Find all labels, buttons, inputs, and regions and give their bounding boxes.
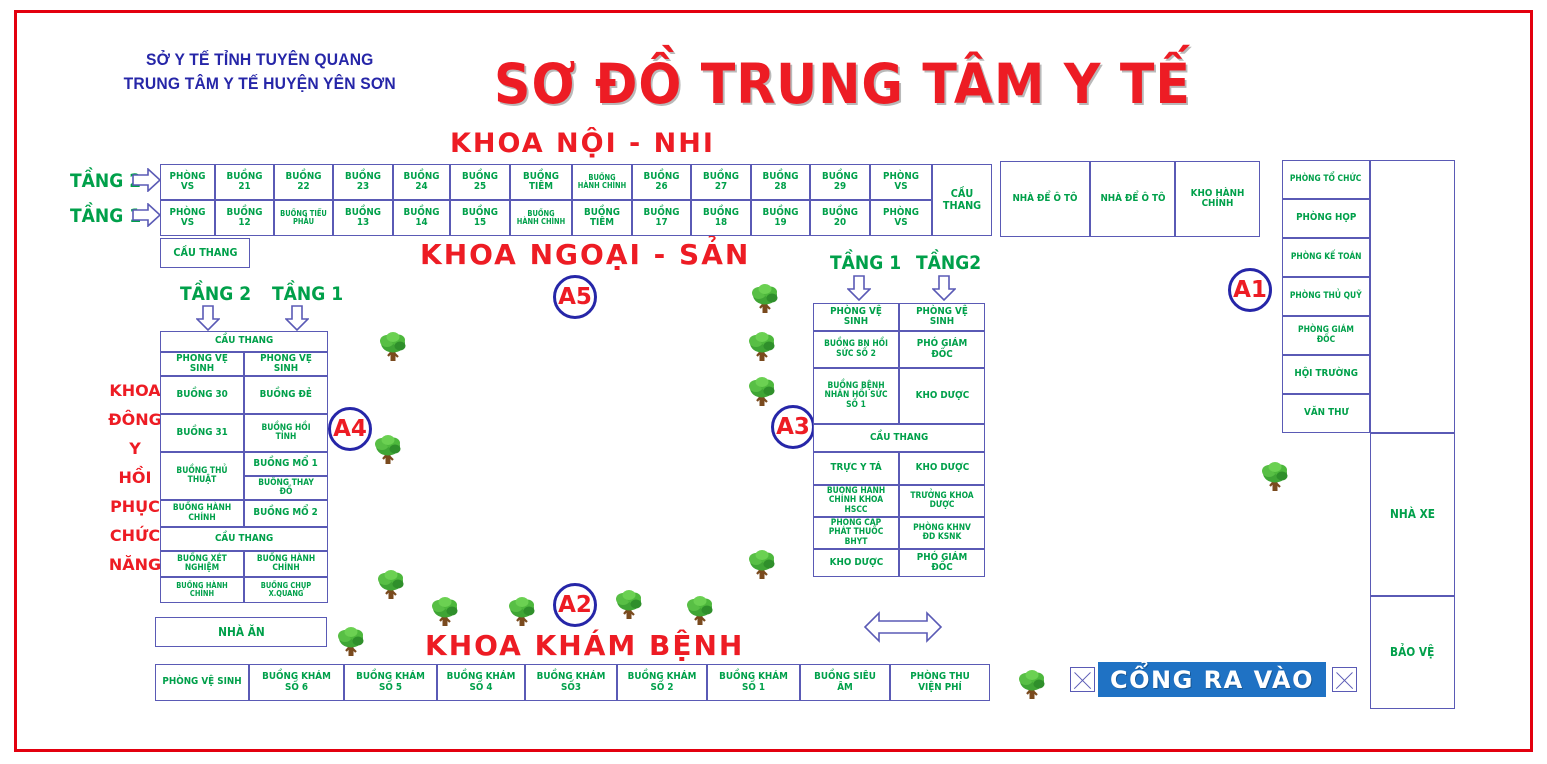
- dept-title-dong-y: KHOA ĐÔNG Y HỒI PHỤC CHỨC NĂNG: [104, 376, 166, 579]
- room-ngoai-left-3[interactable]: BUỒNG 31: [160, 414, 244, 452]
- room-floor2-12[interactable]: BUỒNG 29: [810, 164, 870, 200]
- room-ngoai-right-2[interactable]: BUỒNG ĐẺ: [244, 376, 328, 414]
- page-title: SƠ ĐỒ TRUNG TÂM Y TẾ: [494, 52, 1046, 116]
- dong-y-line: PHỤC: [104, 492, 166, 521]
- room-a3-left-3[interactable]: BUỒNG BỆNH NHÂN HỒI SỨC SỐ 1: [813, 368, 899, 424]
- room-floor1-4[interactable]: BUỒNG 13: [333, 200, 393, 236]
- room-a3-left-1[interactable]: PHÒNG VỆ SINH: [813, 303, 899, 331]
- marker-a3: A3: [771, 405, 815, 449]
- room-parking-1[interactable]: NHÀ ĐỂ Ô TÔ: [1000, 161, 1090, 237]
- room-admin-1[interactable]: PHÒNG TỔ CHỨC: [1282, 160, 1370, 199]
- admin-empty-area: [1370, 160, 1455, 433]
- tree-icon: [371, 433, 405, 467]
- room-hanh-chinh-ngoai[interactable]: BUỒNG HÀNH CHÍNH: [160, 500, 244, 527]
- room-a3b-right-4[interactable]: PHÓ GIÁM ĐỐC: [899, 549, 985, 577]
- room-xet-nghiem[interactable]: BUỒNG XÉT NGHIỆM: [160, 551, 244, 577]
- floor-label-tang1-top: TẦNG 1: [70, 205, 141, 227]
- floor-label-tang2-a3: TẦNG2: [916, 252, 981, 274]
- room-floor1-8[interactable]: BUỒNG TIÊM: [572, 200, 632, 236]
- room-floor2-6[interactable]: BUỒNG 25: [450, 164, 510, 200]
- room-ngoai-right-3[interactable]: BUỒNG HỒI TỈNH: [244, 414, 328, 452]
- room-kham-4[interactable]: BUỒNG KHÁM SỐ 4: [437, 664, 525, 701]
- room-bao-ve[interactable]: BẢO VỆ: [1370, 596, 1455, 709]
- room-kham-6[interactable]: BUỒNG KHÁM SỐ 2: [617, 664, 707, 701]
- room-kham-1[interactable]: PHÒNG VỆ SINH: [155, 664, 249, 701]
- org-line-2: TRUNG TÂM Y TẾ HUYỆN YÊN SƠN: [108, 72, 412, 96]
- marker-a2: A2: [553, 583, 597, 627]
- room-a3b-left-2[interactable]: BUỒNG HÀNH CHÍNH KHOA HSCC: [813, 485, 899, 517]
- room-chup-xquang[interactable]: BUỒNG CHỤP X.QUANG: [244, 577, 328, 603]
- room-floor2-3[interactable]: BUỒNG 22: [274, 164, 333, 200]
- room-floor2-8[interactable]: BUỒNG HÀNH CHÍNH: [572, 164, 632, 200]
- tree-icon: [428, 595, 462, 629]
- room-kham-2[interactable]: BUỒNG KHÁM SỐ 6: [249, 664, 344, 701]
- room-floor1-2[interactable]: BUỒNG 12: [215, 200, 274, 236]
- double-arrow-icon: [862, 610, 944, 644]
- room-a3-left-2[interactable]: BUỒNG BN HỒI SỨC SỐ 2: [813, 331, 899, 368]
- organization-header: SỞ Y TẾ TỈNH TUYÊN QUANG TRUNG TÂM Y TẾ …: [108, 48, 412, 96]
- tree-icon: [748, 282, 782, 316]
- room-floor2-1[interactable]: PHÒNG VS: [160, 164, 215, 200]
- room-thu-thuat[interactable]: BUỒNG THỦ THUẬT: [160, 452, 244, 500]
- room-floor2-2[interactable]: BUỒNG 21: [215, 164, 274, 200]
- room-floor2-13[interactable]: PHÒNG VS: [870, 164, 932, 200]
- gate-post-left-icon: [1070, 667, 1095, 692]
- room-admin-4[interactable]: PHÒNG THỦ QUỸ: [1282, 277, 1370, 316]
- room-nha-an[interactable]: NHÀ ĂN: [155, 617, 327, 647]
- dept-title-noi-nhi: KHOA NỘI - NHI: [450, 128, 715, 159]
- room-floor1-13[interactable]: PHÒNG VS: [870, 200, 932, 236]
- gate-post-right-icon: [1332, 667, 1357, 692]
- room-kham-8[interactable]: BUỒNG SIÊU ÂM: [800, 664, 890, 701]
- arrow-right-icon: [132, 168, 162, 192]
- tree-icon: [745, 548, 779, 582]
- room-floor1-11[interactable]: BUỒNG 19: [751, 200, 810, 236]
- tree-icon: [1258, 460, 1292, 494]
- room-a3b-left-4[interactable]: KHO DƯỢC: [813, 549, 899, 577]
- tree-icon: [745, 375, 779, 409]
- room-ngoai-stair-top[interactable]: CẦU THANG: [160, 331, 328, 352]
- tree-icon: [505, 595, 539, 629]
- dong-y-line: CHỨC: [104, 521, 166, 550]
- room-floor1-9[interactable]: BUỒNG 17: [632, 200, 691, 236]
- floor-label-tang2-top: TẦNG 2: [70, 170, 141, 192]
- tree-icon: [334, 625, 368, 659]
- room-cau-thang-noi-nhi[interactable]: CẦU THANG: [932, 164, 992, 236]
- room-a3-stair[interactable]: CẦU THANG: [813, 424, 985, 452]
- tree-icon: [683, 594, 717, 628]
- tree-icon: [745, 330, 779, 364]
- arrow-right-icon: [132, 203, 162, 227]
- gate-entrance[interactable]: CỔNG RA VÀO: [1098, 662, 1326, 697]
- room-a3b-left-3[interactable]: PHÒNG CẤP PHÁT THUỐC BHYT: [813, 517, 899, 549]
- room-a3b-right-2[interactable]: TRƯỞNG KHOA DƯỢC: [899, 485, 985, 517]
- room-admin-3[interactable]: PHÒNG KẾ TOÁN: [1282, 238, 1370, 277]
- room-mo-1[interactable]: BUỒNG MỔ 1: [244, 452, 328, 476]
- dong-y-line: HỒI: [104, 463, 166, 492]
- room-nha-xe[interactable]: NHÀ XE: [1370, 433, 1455, 596]
- arrow-down-icon: [847, 275, 871, 301]
- dong-y-line: ĐÔNG Y: [104, 405, 166, 463]
- room-a3-right-3[interactable]: KHO DƯỢC: [899, 368, 985, 424]
- dong-y-line: NĂNG: [104, 550, 166, 579]
- floor-label-tang2-ngoaisan: TẦNG 2: [180, 283, 251, 305]
- tree-icon: [1015, 668, 1049, 702]
- room-kham-9[interactable]: PHÒNG THU VIỆN PHÍ: [890, 664, 990, 701]
- room-admin-2[interactable]: PHÒNG HỌP: [1282, 199, 1370, 238]
- room-a3-right-2[interactable]: PHÓ GIÁM ĐỐC: [899, 331, 985, 368]
- room-admin-6[interactable]: HỘI TRƯỜNG: [1282, 355, 1370, 394]
- room-hanh-chinh-2[interactable]: BUỒNG HÀNH CHÍNH: [244, 551, 328, 577]
- room-kham-7[interactable]: BUỒNG KHÁM SỐ 1: [707, 664, 800, 701]
- room-a3-right-1[interactable]: PHÒNG VỆ SINH: [899, 303, 985, 331]
- tree-icon: [612, 588, 646, 622]
- arrow-down-icon: [196, 305, 220, 331]
- dashed-divider: [247, 577, 325, 578]
- room-parking-3[interactable]: KHO HÀNH CHÍNH: [1175, 161, 1260, 237]
- room-floor1-5[interactable]: BUỒNG 14: [393, 200, 450, 236]
- room-thay-do[interactable]: BUỒNG THAY ĐỒ: [244, 476, 328, 500]
- room-kham-5[interactable]: BUỒNG KHÁM SỐ3: [525, 664, 617, 701]
- room-floor1-3[interactable]: BUỒNG TIỂU PHẪU: [274, 200, 333, 236]
- room-ngoai-stair-mid[interactable]: CẦU THANG: [160, 527, 328, 551]
- room-ngoai-left-2[interactable]: BUỒNG 30: [160, 376, 244, 414]
- marker-a5: A5: [553, 275, 597, 319]
- room-floor1-7[interactable]: BUỒNG HÀNH CHÍNH: [510, 200, 572, 236]
- arrow-down-icon: [932, 275, 956, 301]
- tree-icon: [376, 330, 410, 364]
- dept-title-kham-benh: KHOA KHÁM BỆNH: [425, 629, 744, 662]
- room-a3b-left-1[interactable]: TRỰC Y TÁ: [813, 452, 899, 485]
- marker-a4: A4: [328, 407, 372, 451]
- room-floor2-7[interactable]: BUỒNG TIÊM: [510, 164, 572, 200]
- org-line-1: SỞ Y TẾ TỈNH TUYÊN QUANG: [108, 48, 412, 72]
- room-hanh-chinh-3[interactable]: BUỒNG HÀNH CHÍNH: [160, 577, 244, 603]
- room-admin-5[interactable]: PHÒNG GIÁM ĐỐC: [1282, 316, 1370, 355]
- room-cau-thang-left[interactable]: CẦU THANG: [160, 238, 250, 268]
- room-floor1-6[interactable]: BUỒNG 15: [450, 200, 510, 236]
- room-kham-3[interactable]: BUỒNG KHÁM SỐ 5: [344, 664, 437, 701]
- room-a3b-right-3[interactable]: PHÒNG KHNV ĐD KSNK: [899, 517, 985, 549]
- room-ngoai-left-1[interactable]: PHÒNG VỆ SINH: [160, 352, 244, 376]
- room-floor2-5[interactable]: BUỒNG 24: [393, 164, 450, 200]
- room-admin-7[interactable]: VĂN THƯ: [1282, 394, 1370, 433]
- marker-a1: A1: [1228, 268, 1272, 312]
- room-floor1-1[interactable]: PHÒNG VS: [160, 200, 215, 236]
- room-ngoai-right-1[interactable]: PHÒNG VỆ SINH: [244, 352, 328, 376]
- room-mo-2[interactable]: BUỒNG MỔ 2: [244, 500, 328, 527]
- dept-title-ngoai-san: KHOA NGOẠI - SẢN: [420, 238, 750, 271]
- room-floor1-12[interactable]: BUỒNG 20: [810, 200, 870, 236]
- room-floor2-10[interactable]: BUỒNG 27: [691, 164, 751, 200]
- room-parking-2[interactable]: NHÀ ĐỂ Ô TÔ: [1090, 161, 1175, 237]
- room-a3b-right-1[interactable]: KHO DƯỢC: [899, 452, 985, 485]
- room-floor2-9[interactable]: BUỒNG 26: [632, 164, 691, 200]
- floor-label-tang1-a3: TẦNG 1: [830, 252, 901, 274]
- tree-icon: [374, 568, 408, 602]
- room-floor1-10[interactable]: BUỒNG 18: [691, 200, 751, 236]
- dong-y-line: KHOA: [104, 376, 166, 405]
- room-floor2-4[interactable]: BUỒNG 23: [333, 164, 393, 200]
- room-floor2-11[interactable]: BUỒNG 28: [751, 164, 810, 200]
- floor-plan-diagram: SỞ Y TẾ TỈNH TUYÊN QUANG TRUNG TÂM Y TẾ …: [0, 0, 1547, 764]
- floor-label-tang1-ngoaisan: TẦNG 1: [272, 283, 343, 305]
- arrow-down-icon: [285, 305, 309, 331]
